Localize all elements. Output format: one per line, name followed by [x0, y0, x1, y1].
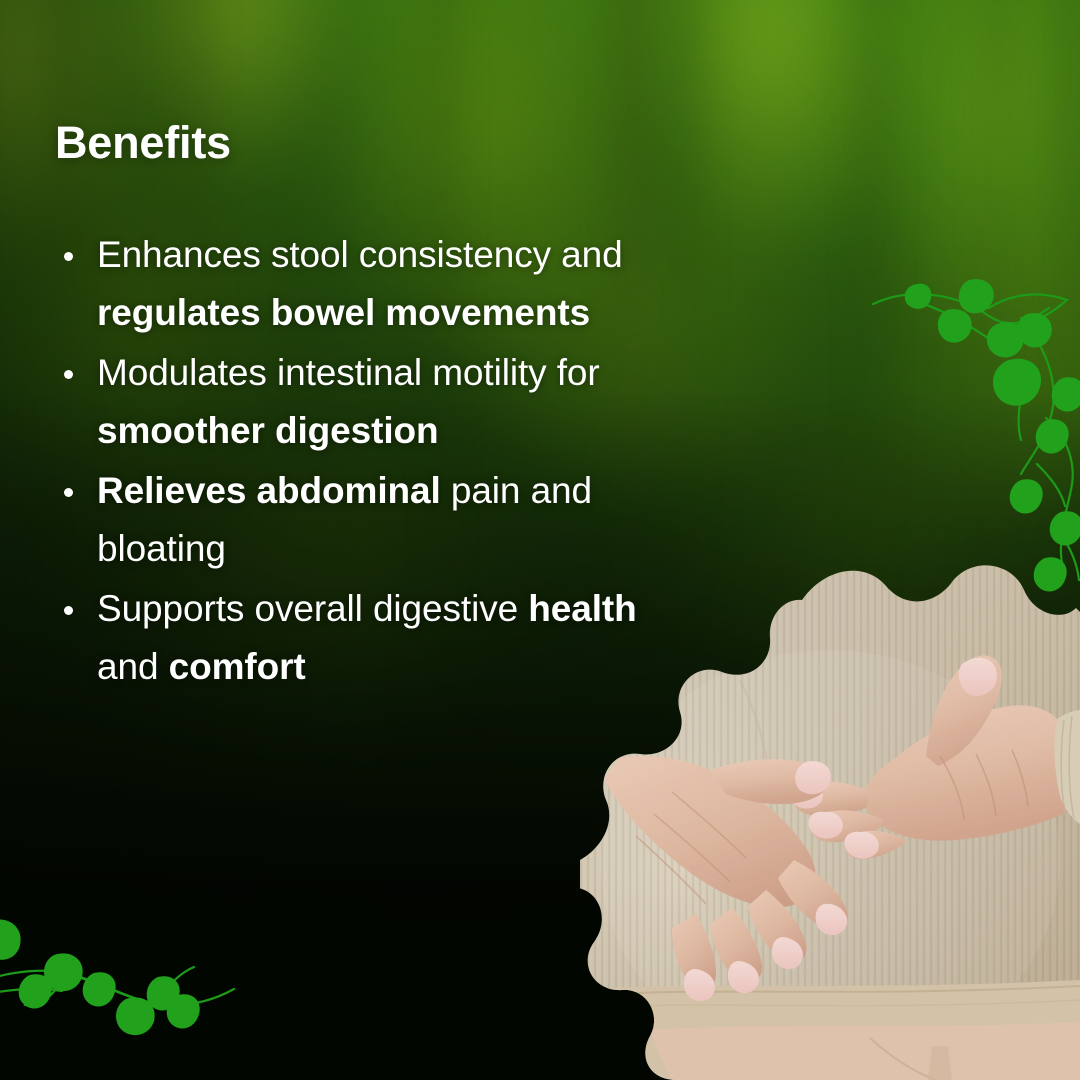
bullet-dot-icon	[64, 252, 73, 261]
list-item: Enhances stool consistency and regulates…	[55, 226, 705, 342]
list-item-text: Modulates intestinal motility for smooth…	[97, 352, 600, 451]
bullet-dot-icon	[64, 488, 73, 497]
list-item-text: Supports overall digestive health and co…	[97, 588, 637, 687]
list-item: Modulates intestinal motility for smooth…	[55, 344, 705, 460]
benefits-poster: Benefits Enhances stool consistency and …	[0, 0, 1080, 1080]
hands-on-abdomen-photo	[580, 560, 1080, 1080]
page-title: Benefits	[55, 119, 231, 166]
bullet-dot-icon	[64, 370, 73, 379]
bullet-dot-icon	[64, 606, 73, 615]
list-item-text: Relieves abdominal pain and bloating	[97, 470, 592, 569]
list-item-text: Enhances stool consistency and regulates…	[97, 234, 623, 333]
